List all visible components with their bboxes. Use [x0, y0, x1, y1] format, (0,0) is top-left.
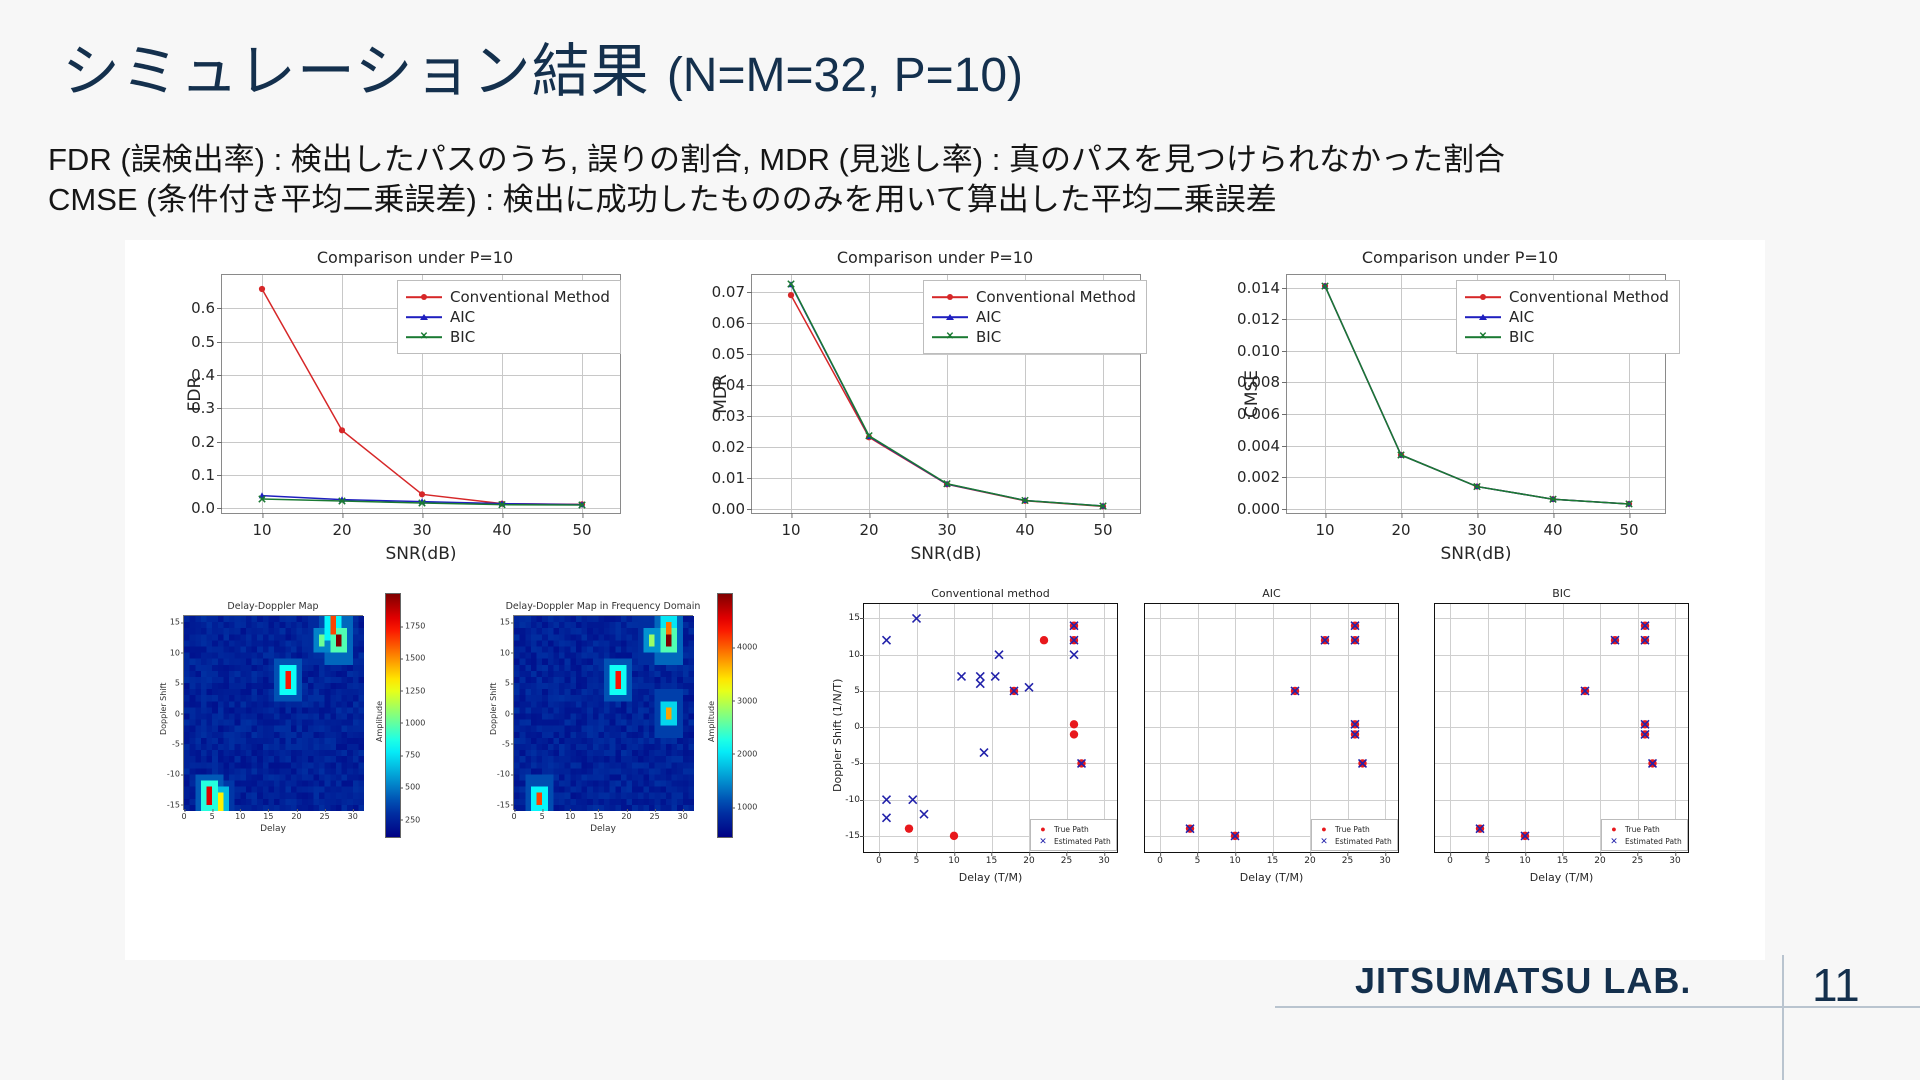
heatmap-x-tick: 30: [678, 809, 688, 821]
heatmap-y-tick: -10: [167, 770, 184, 779]
legend-marker: [421, 294, 427, 300]
heatmap-y-label: Doppler Shift: [489, 682, 498, 734]
x-axis-tick-label: 40: [1015, 513, 1034, 539]
scatter-plot-area: 051015202530: [1144, 603, 1399, 853]
page-title: シミュレーション結果 (N=M=32, P=10): [62, 24, 1023, 108]
scatter-x-label: Delay (T/M): [1434, 871, 1689, 884]
legend-label: Conventional Method: [450, 288, 610, 306]
heatmap-title: Delay-Doppler Map in Frequency Domain: [483, 601, 723, 612]
colorbar-tick: 1000: [732, 803, 757, 812]
scatter-x-tick: 5: [1195, 852, 1201, 866]
scatter-x-tick: 20: [1023, 852, 1034, 866]
heatmap-x-tick: 15: [593, 809, 603, 821]
legend-marker: ✕: [1479, 334, 1487, 340]
legend-marker: ✕: [420, 334, 428, 340]
x-axis-tick-label: 10: [1315, 513, 1334, 539]
heatmap-y-tick: -10: [497, 770, 514, 779]
x-axis-tick-label: 20: [859, 513, 878, 539]
scatter-x-tick: 0: [1447, 852, 1453, 866]
scatter-x-label: Delay (T/M): [1144, 871, 1399, 884]
heatmap-y-tick: 10: [170, 648, 184, 657]
legend-marker: ●: [1317, 823, 1331, 835]
scatter-title: BIC: [1434, 587, 1689, 600]
y-axis-tick-label: 0.014: [1237, 279, 1287, 297]
legend-label: True Path: [1335, 825, 1370, 834]
colorbar-label: Amplitude: [707, 701, 716, 742]
legend-item: Conventional Method: [932, 287, 1136, 307]
heatmap-y-tick: 15: [500, 618, 514, 627]
legend-item: Conventional Method: [1465, 287, 1669, 307]
legend-item: ●True Path: [1607, 823, 1682, 835]
legend-label: AIC: [976, 308, 1001, 326]
y-axis-tick-label: 0.07: [712, 283, 752, 301]
scatter-aic: AIC051015202530Delay (T/M)●True Path✕Est…: [1130, 575, 1420, 950]
legend-marker: [1479, 314, 1487, 320]
heatmap-x-tick: 15: [263, 809, 273, 821]
legend-item: ✕Estimated Path: [1607, 835, 1682, 847]
scatter-legend: ●True Path✕Estimated Path: [1030, 819, 1117, 851]
x-axis-label: SNR(dB): [751, 544, 1141, 564]
legend-marker: [420, 314, 428, 320]
heatmap-y-tick: 5: [505, 679, 514, 688]
scatter-x-tick: 25: [1061, 852, 1072, 866]
x-axis-tick-label: 20: [332, 513, 351, 539]
legend-item: ●True Path: [1036, 823, 1111, 835]
chart-title: Comparison under P=10: [1210, 248, 1710, 267]
y-axis-tick-label: 0.010: [1237, 342, 1287, 360]
legend-swatch-o: [1465, 291, 1501, 303]
colorbar-tick: 1500: [400, 654, 425, 663]
legend-item: AIC: [932, 307, 1136, 327]
y-axis-tick-label: 0.01: [712, 469, 752, 487]
heatmap-title: Delay-Doppler Map: [153, 601, 393, 612]
legend-swatch-x: ✕: [406, 331, 442, 343]
legend-marker: [1480, 294, 1486, 300]
scatter-x-label: Delay (T/M): [863, 871, 1118, 884]
scatter-x-tick: 30: [1098, 852, 1109, 866]
y-axis-tick-label: 0.1: [191, 466, 222, 484]
y-axis-tick-label: 0.00: [712, 500, 752, 518]
x-axis-label: SNR(dB): [1286, 544, 1666, 564]
heatmap-y-tick: 15: [170, 618, 184, 627]
legend-item: AIC: [1465, 307, 1669, 327]
scatter-bic: BIC051015202530Delay (T/M)●True Path✕Est…: [1420, 575, 1710, 950]
heatmap-x-tick: 5: [210, 809, 215, 821]
legend-marker: ✕: [1036, 835, 1050, 847]
colorbar-tick: 4000: [732, 643, 757, 652]
scatter-legend: ●True Path✕Estimated Path: [1601, 819, 1688, 851]
scatter-x-tick: 0: [876, 852, 882, 866]
heatmap-canvas: [184, 616, 364, 811]
scatter-x-tick: 15: [1267, 852, 1278, 866]
y-axis-label: CMSE: [1242, 370, 1262, 418]
lab-logo: JITSUMATSU LAB.: [1355, 960, 1691, 1002]
x-axis-tick-label: 50: [572, 513, 591, 539]
page-title-main: シミュレーション結果: [62, 39, 650, 104]
scatter-x-tick: 25: [1342, 852, 1353, 866]
page-title-params: (N=M=32, P=10): [667, 49, 1023, 102]
chart-mdr: Comparison under P=100.000.010.020.030.0…: [685, 248, 1185, 548]
x-axis-tick-label: 10: [252, 513, 271, 539]
scatter-x-tick: 30: [1669, 852, 1680, 866]
x-axis-label: SNR(dB): [221, 544, 621, 564]
legend-marker: ✕: [1607, 835, 1621, 847]
footer-divider-vertical: [1782, 955, 1784, 1080]
legend-label: BIC: [976, 328, 1001, 346]
heatmap-y-tick: -5: [502, 739, 514, 748]
legend-marker: ●: [1036, 823, 1050, 835]
heatmap-x-tick: 30: [348, 809, 358, 821]
legend-label: Conventional Method: [1509, 288, 1669, 306]
scatter-title: Conventional method: [863, 587, 1118, 600]
scatter-title: AIC: [1144, 587, 1399, 600]
heatmap-y-tick: -5: [172, 739, 184, 748]
scatter-plot-area: 051015202530: [1434, 603, 1689, 853]
legend-swatch-x: ✕: [932, 331, 968, 343]
heatmap-x-label: Delay: [183, 824, 363, 834]
heatmap-delay-doppler-map: Delay-Doppler Map-15-10-5051015051015202…: [135, 575, 455, 950]
scatter-plot-area: 051015202530-15-10-5051015: [863, 603, 1118, 853]
heatmap-y-tick: 0: [175, 709, 184, 718]
x-axis-tick-label: 30: [1467, 513, 1486, 539]
legend-item: AIC: [406, 307, 610, 327]
chart-title: Comparison under P=10: [685, 248, 1185, 267]
x-axis-tick-label: 50: [1093, 513, 1112, 539]
legend-label: BIC: [1509, 328, 1534, 346]
scatter-x-tick: 25: [1632, 852, 1643, 866]
legend-label: BIC: [450, 328, 475, 346]
chart-legend: Conventional MethodAIC✕BIC: [923, 280, 1147, 354]
y-axis-tick-label: 0.5: [191, 333, 222, 351]
y-axis-tick-label: 0.06: [712, 314, 752, 332]
scatter-conventional-method: Conventional method051015202530-15-10-50…: [815, 575, 1130, 950]
scatter-y-label: Doppler Shift (1/N/T): [831, 679, 844, 792]
legend-swatch-o: [406, 291, 442, 303]
heatmap-canvas: [514, 616, 694, 811]
scatter-y-tick: -5: [851, 758, 864, 768]
y-axis-tick-label: 0.6: [191, 299, 222, 317]
legend-label: True Path: [1054, 825, 1089, 834]
heatmap-plot-area: -15-10-5051015051015202530: [513, 615, 693, 810]
legend-marker: ●: [1607, 823, 1621, 835]
legend-label: AIC: [450, 308, 475, 326]
x-axis-tick-label: 40: [1543, 513, 1562, 539]
page-number: 11: [1812, 958, 1860, 1012]
x-axis-tick-label: 40: [492, 513, 511, 539]
scatter-y-tick: 10: [849, 650, 864, 660]
y-axis-tick-label: 0.0: [191, 499, 222, 517]
heatmap-x-label: Delay: [513, 824, 693, 834]
y-axis-tick-label: 0.004: [1237, 437, 1287, 455]
x-axis-tick-label: 50: [1619, 513, 1638, 539]
legend-item: ✕BIC: [1465, 327, 1669, 347]
y-axis-tick-label: 0.000: [1237, 500, 1287, 518]
legend-swatch-o: [932, 291, 968, 303]
colorbar-tick: 1750: [400, 622, 425, 631]
colorbar-tick: 750: [400, 751, 420, 760]
heatmap-x-tick: 25: [650, 809, 660, 821]
legend-label: Estimated Path: [1335, 837, 1392, 846]
colorbar-tick: 250: [400, 815, 420, 824]
scatter-x-tick: 10: [948, 852, 959, 866]
x-axis-tick-label: 30: [412, 513, 431, 539]
chart-legend: Conventional MethodAIC✕BIC: [397, 280, 621, 354]
scatter-x-tick: 20: [1304, 852, 1315, 866]
y-axis-label: FDR: [185, 377, 205, 412]
scatter-x-tick: 0: [1157, 852, 1163, 866]
heatmap-x-tick: 0: [181, 809, 186, 821]
colorbar-tick: 1000: [400, 718, 425, 727]
colorbar-tick: 2000: [732, 749, 757, 758]
legend-swatch-^: [406, 311, 442, 323]
y-axis-tick-label: 0.002: [1237, 468, 1287, 486]
scatter-legend: ●True Path✕Estimated Path: [1311, 819, 1398, 851]
y-axis-tick-label: 0.05: [712, 345, 752, 363]
scatter-y-tick: 0: [854, 722, 864, 732]
scatter-y-tick: -15: [845, 831, 864, 841]
y-axis-label: MDR: [711, 374, 731, 414]
legend-marker: ✕: [946, 334, 954, 340]
scatter-x-tick: 20: [1594, 852, 1605, 866]
legend-label: Conventional Method: [976, 288, 1136, 306]
heatmap-plot-area: -15-10-5051015051015202530: [183, 615, 363, 810]
heatmap-x-tick: 20: [291, 809, 301, 821]
heatmap-x-tick: 20: [621, 809, 631, 821]
legend-item: ●True Path: [1317, 823, 1392, 835]
legend-item: ✕BIC: [932, 327, 1136, 347]
definitions-text: FDR (誤検出率) : 検出したパスのうち, 誤りの割合, MDR (見逃し率…: [48, 140, 1505, 221]
scatter-x-tick: 10: [1229, 852, 1240, 866]
legend-marker: ✕: [1317, 835, 1331, 847]
colorbar-label: Amplitude: [375, 701, 384, 742]
chart-fdr: Comparison under P=100.00.10.20.30.40.50…: [165, 248, 665, 548]
colorbar-tick: 1250: [400, 686, 425, 695]
legend-marker: [946, 314, 954, 320]
legend-label: Estimated Path: [1625, 837, 1682, 846]
heatmap-x-tick: 10: [565, 809, 575, 821]
x-axis-tick-label: 30: [937, 513, 956, 539]
scatter-x-tick: 10: [1519, 852, 1530, 866]
heatmap-y-tick: 10: [500, 648, 514, 657]
heatmap-x-tick: 0: [511, 809, 516, 821]
scatter-x-tick: 30: [1379, 852, 1390, 866]
y-axis-tick-label: 0.012: [1237, 310, 1287, 328]
x-axis-tick-label: 10: [781, 513, 800, 539]
x-axis-tick-label: 20: [1391, 513, 1410, 539]
chart-title: Comparison under P=10: [165, 248, 665, 267]
legend-item: ✕Estimated Path: [1317, 835, 1392, 847]
legend-label: AIC: [1509, 308, 1534, 326]
colorbar-tick: 500: [400, 783, 420, 792]
legend-item: Conventional Method: [406, 287, 610, 307]
heatmap-y-tick: 5: [175, 679, 184, 688]
heatmap-delay-doppler-map-frequency: Delay-Doppler Map in Frequency Domain-15…: [455, 575, 795, 950]
colorbar-tick: 3000: [732, 696, 757, 705]
chart-cmse: Comparison under P=100.0000.0020.0040.00…: [1210, 248, 1710, 548]
legend-marker: [947, 294, 953, 300]
heatmap-x-tick: 5: [540, 809, 545, 821]
y-axis-tick-label: 0.02: [712, 438, 752, 456]
legend-item: ✕BIC: [406, 327, 610, 347]
y-axis-tick-label: 0.2: [191, 433, 222, 451]
heatmap-x-tick: 25: [320, 809, 330, 821]
scatter-x-tick: 15: [986, 852, 997, 866]
legend-label: True Path: [1625, 825, 1660, 834]
heatmap-x-tick: 10: [235, 809, 245, 821]
legend-swatch-^: [932, 311, 968, 323]
chart-legend: Conventional MethodAIC✕BIC: [1456, 280, 1680, 354]
scatter-x-tick: 5: [914, 852, 920, 866]
scatter-x-tick: 5: [1485, 852, 1491, 866]
definition-line-cmse: CMSE (条件付き平均二乗誤差) : 検出に成功したもののみを用いて算出した平…: [48, 180, 1505, 220]
legend-label: Estimated Path: [1054, 837, 1111, 846]
scatter-y-tick: 15: [849, 613, 864, 623]
legend-item: ✕Estimated Path: [1036, 835, 1111, 847]
heatmap-colorbar: 2505007501000125015001750: [385, 593, 401, 838]
legend-swatch-x: ✕: [1465, 331, 1501, 343]
heatmap-y-tick: 0: [505, 709, 514, 718]
definition-line-fdr-mdr: FDR (誤検出率) : 検出したパスのうち, 誤りの割合, MDR (見逃し率…: [48, 140, 1505, 180]
heatmap-y-label: Doppler Shift: [159, 682, 168, 734]
scatter-x-tick: 15: [1557, 852, 1568, 866]
figure-panel: Comparison under P=100.00.10.20.30.40.50…: [125, 240, 1765, 960]
scatter-y-tick: -10: [845, 795, 864, 805]
scatter-y-tick: 5: [854, 686, 864, 696]
legend-swatch-^: [1465, 311, 1501, 323]
heatmap-colorbar: 1000200030004000: [717, 593, 733, 838]
